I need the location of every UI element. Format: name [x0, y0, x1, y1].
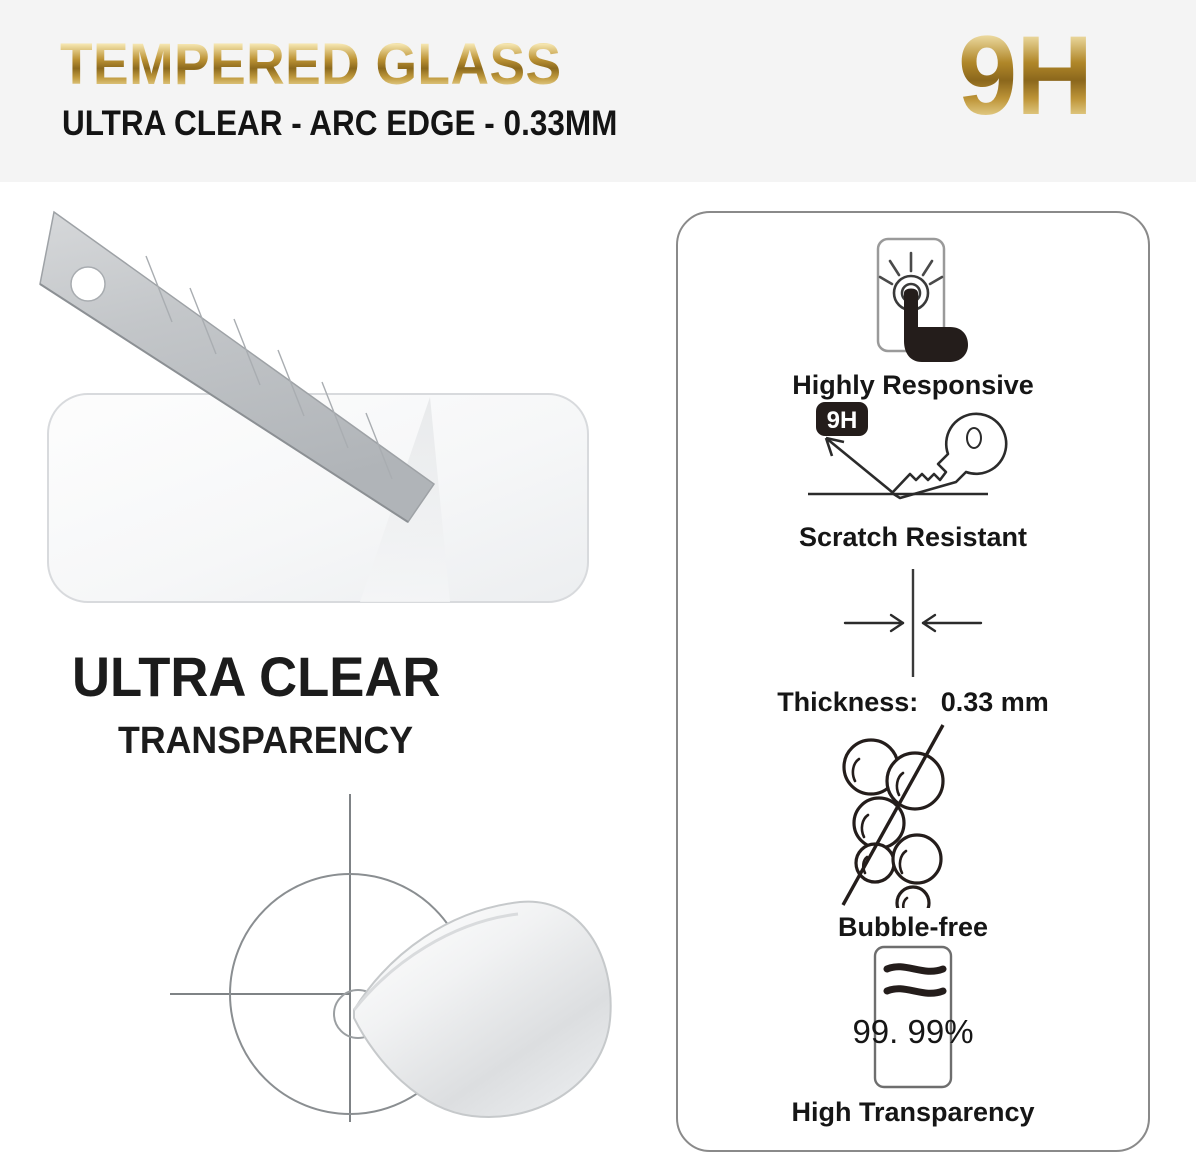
- product-infographic: TEMPERED GLASS ULTRA CLEAR - ARC EDGE - …: [0, 0, 1196, 1161]
- feature-label: Highly Responsive: [678, 370, 1148, 401]
- badge-9h-icon: 9H: [816, 402, 868, 436]
- arc-edge-illustration: [20, 782, 650, 1132]
- bubbles-crossed-icon: [803, 723, 1023, 908]
- feature-label: High Transparency: [678, 1097, 1148, 1128]
- svg-text:9H: 9H: [827, 407, 858, 434]
- transparency-subhead: TRANSPARENCY: [118, 720, 413, 763]
- thickness-arrows-icon: [803, 563, 1023, 683]
- page-title: TEMPERED GLASS: [60, 36, 562, 94]
- left-panel: ULTRA CLEAR TRANSPARENCY: [0, 182, 668, 1161]
- touch-phone-icon: [838, 231, 988, 366]
- rebound-arrow-icon: [826, 438, 892, 492]
- feature-thickness: Thickness: 0.33 mm: [678, 563, 1148, 718]
- hardness-badge-9h: 9H: [958, 20, 1092, 132]
- key-scratch-icon: 9H: [788, 398, 1038, 518]
- arc-edge-glass-icon: [354, 902, 611, 1117]
- feature-label: Scratch Resistant: [678, 522, 1148, 553]
- transparency-value: 99. 99%: [852, 1013, 973, 1050]
- feature-highly-responsive: Highly Responsive: [678, 231, 1148, 401]
- key-icon: [892, 414, 1006, 498]
- feature-scratch-resistant: 9H Scratch Resistant: [678, 398, 1148, 553]
- ultra-clear-headline: ULTRA CLEAR: [72, 644, 440, 709]
- feature-bubble-free: Bubble-free: [678, 723, 1148, 943]
- features-panel: Highly Responsive 9H: [676, 211, 1150, 1152]
- feature-label: Thickness: 0.33 mm: [678, 687, 1148, 718]
- transparency-phone-icon: 99. 99%: [813, 943, 1013, 1093]
- feature-high-transparency: 99. 99% High Transparency: [678, 943, 1148, 1128]
- blade-over-glass-illustration: [30, 192, 650, 612]
- feature-label: Bubble-free: [678, 912, 1148, 943]
- header-subtitle: ULTRA CLEAR - ARC EDGE - 0.33MM: [62, 104, 617, 144]
